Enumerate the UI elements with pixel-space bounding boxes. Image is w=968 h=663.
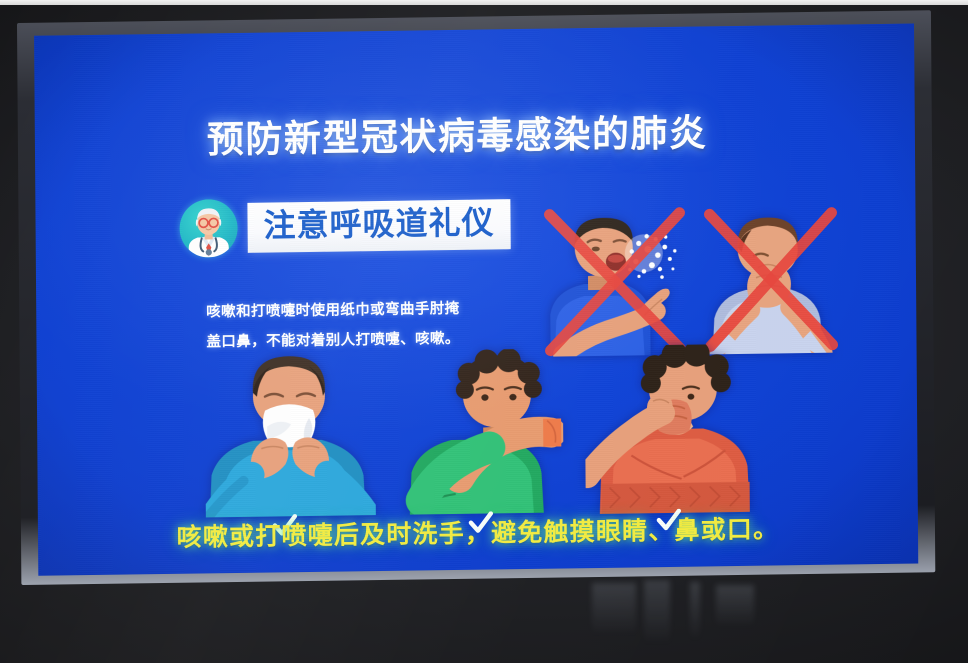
bezel-reflection: [690, 582, 700, 640]
section-heading: 注意呼吸道礼仪: [263, 204, 494, 244]
section-heading-plate: 注意呼吸道礼仪: [247, 199, 510, 252]
illustration-cough-into-collar: [585, 344, 766, 515]
illustration-use-tissue: [205, 347, 376, 517]
photo-scene: 预防新型冠状病毒感染的肺炎: [0, 0, 968, 663]
bezel-reflection: [716, 585, 754, 627]
section-banner: 注意呼吸道礼仪: [179, 195, 510, 258]
illustration-cough-into-elbow: [403, 348, 564, 514]
display-screen: 预防新型冠状病毒感染的肺炎: [34, 24, 918, 576]
display-panel: 预防新型冠状病毒感染的肺炎: [20, 13, 932, 582]
illustration-cover-with-bare-hands: [705, 205, 834, 355]
bezel-reflection: [592, 583, 636, 635]
slide-content: 预防新型冠状病毒感染的肺炎: [34, 24, 918, 576]
photo-top-strip: [0, 0, 968, 5]
body-line: 咳嗽和打喷嚏时使用纸巾或弯曲手肘掩: [206, 293, 546, 328]
doctor-avatar-icon: [179, 199, 237, 258]
illustration-sneeze-uncovered: [543, 203, 694, 357]
bezel-reflection: [644, 580, 670, 644]
page-title: 预防新型冠状病毒感染的肺炎: [207, 102, 707, 163]
